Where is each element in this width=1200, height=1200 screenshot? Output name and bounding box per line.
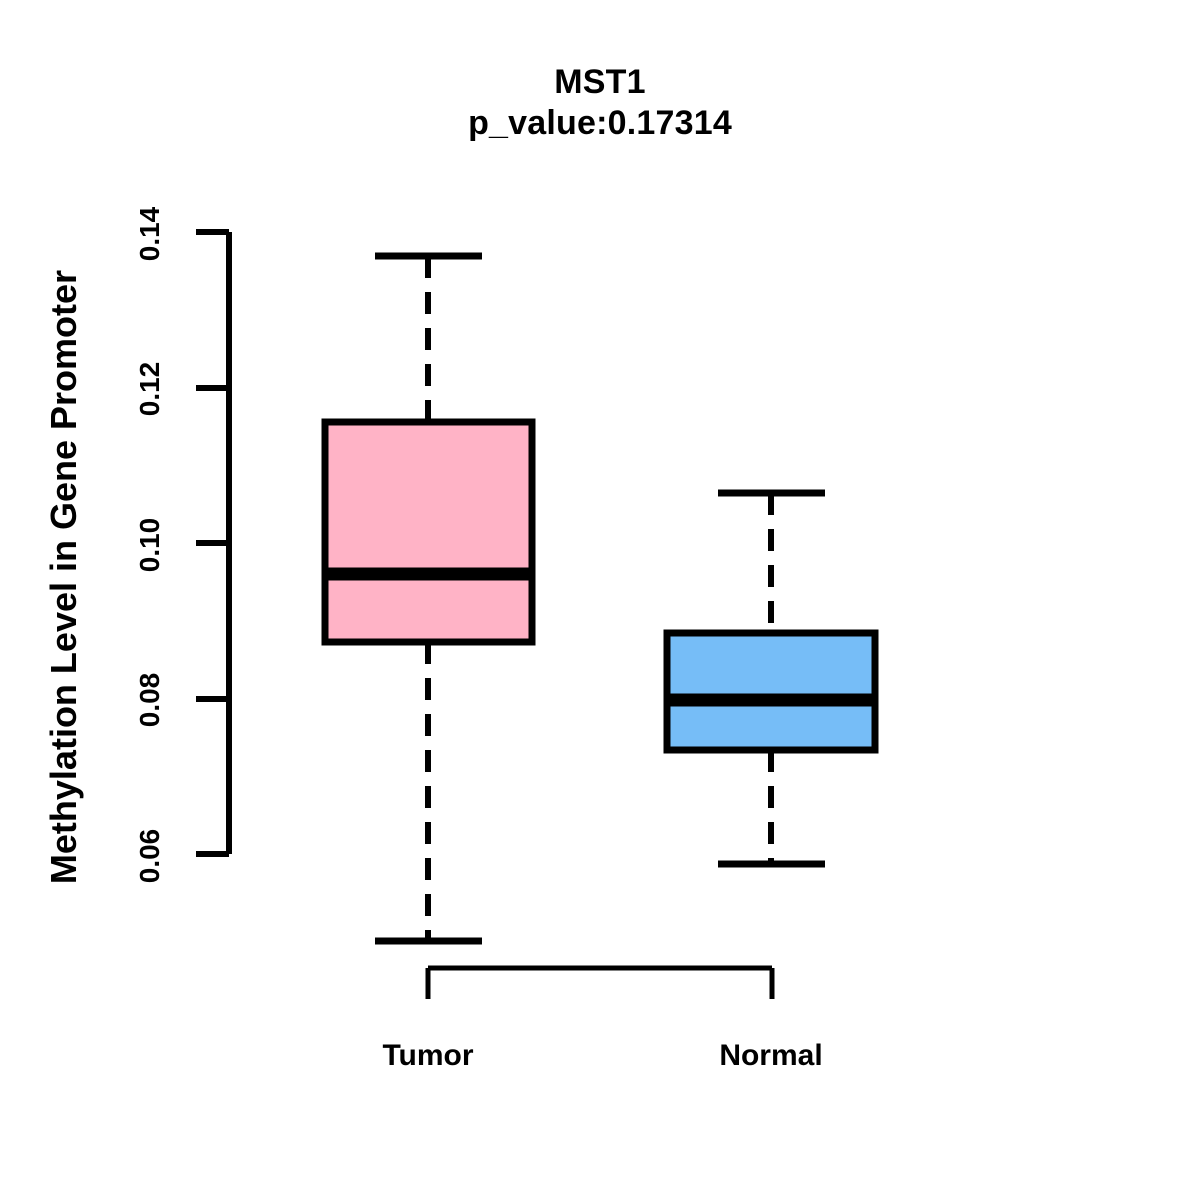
boxplot-figure: MST1 p_value:0.17314 Methylation Level i… — [0, 0, 1200, 1200]
normal-iqr-box[interactable] — [667, 633, 875, 750]
x-axis — [428, 968, 772, 999]
plot-canvas — [0, 0, 1200, 1200]
box-normal[interactable] — [664, 493, 878, 864]
box-tumor[interactable] — [322, 256, 535, 941]
y-axis — [196, 232, 229, 854]
tumor-iqr-box[interactable] — [325, 422, 532, 642]
